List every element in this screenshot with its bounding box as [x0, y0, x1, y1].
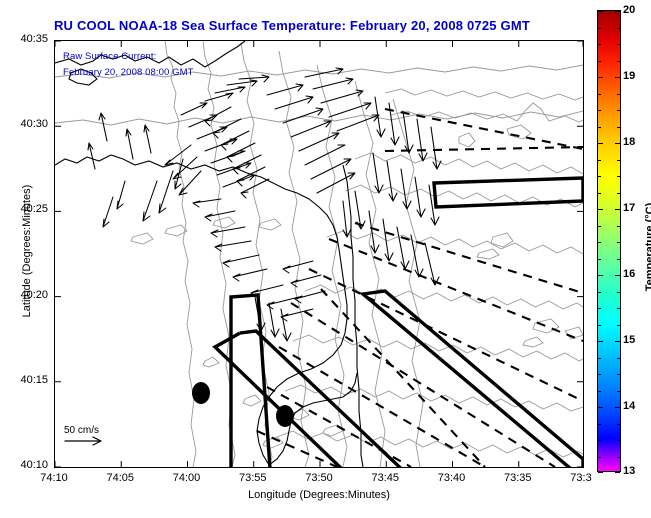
map-graphics [55, 41, 583, 467]
scalebar-label: 50 cm/s [64, 425, 99, 436]
x-axis-title: Longitude (Degrees:Minutes) [54, 489, 584, 501]
ytick-label: 40:30 [4, 118, 48, 130]
annotation-line-1: Raw Surface Current: [63, 51, 156, 62]
annotation-line-2: February 20, 2008 08:00 GMT [63, 67, 194, 78]
figure-canvas: RU COOL NOAA-18 Sea Surface Temperature:… [0, 0, 651, 518]
coastline [55, 41, 363, 467]
xtick-label: 73:45 [371, 472, 399, 484]
colorbar-tick-label: 17 [623, 202, 635, 214]
xtick-label: 74:10 [40, 472, 68, 484]
colorbar-tick-label: 15 [623, 334, 635, 346]
ytick-label: 40:35 [4, 33, 48, 45]
survey-lane-polygon-diagonal [363, 291, 583, 467]
colorbar-tick-label: 14 [623, 400, 635, 412]
colorbar-tick-label: 19 [623, 70, 635, 82]
bathymetry-contours [55, 41, 583, 467]
map-plot-area[interactable]: Raw Surface Current: February 20, 2008 0… [54, 40, 584, 468]
xtick-label: 73:55 [239, 472, 267, 484]
y-axis-title: Latitude (Degrees:Minutes) [21, 131, 33, 371]
colorbar[interactable] [597, 10, 621, 472]
xtick-label: 73:35 [504, 472, 532, 484]
ytick-label: 40:10 [4, 459, 48, 471]
x-axis-tick-labels: 74:10 74:05 74:00 73:55 73:50 73:45 73:4… [54, 472, 584, 488]
xtick-label: 73:40 [438, 472, 466, 484]
axis-inner-ticks [55, 41, 583, 467]
scale-reference-arrow [65, 437, 101, 445]
page-title: RU COOL NOAA-18 Sea Surface Temperature:… [0, 18, 584, 33]
xtick-label: 74:05 [106, 472, 134, 484]
xtick-label: 74:00 [173, 472, 201, 484]
xtick-label: 73:50 [305, 472, 333, 484]
colorbar-tick-label: 20 [623, 4, 635, 16]
colorbar-title: Temperature (°C) [644, 167, 651, 327]
xtick-label: 73:3 [570, 472, 591, 484]
ytick-label: 40:15 [4, 374, 48, 386]
colorbar-tick-label: 16 [623, 268, 635, 280]
station-markers[interactable] [192, 382, 294, 427]
colorbar-tick-labels: 20 19 18 17 16 15 14 13 [623, 10, 645, 472]
colorbar-tick-label: 13 [623, 465, 635, 477]
colorbar-tick-label: 18 [623, 136, 635, 148]
dashed-radial-rays [257, 109, 583, 467]
